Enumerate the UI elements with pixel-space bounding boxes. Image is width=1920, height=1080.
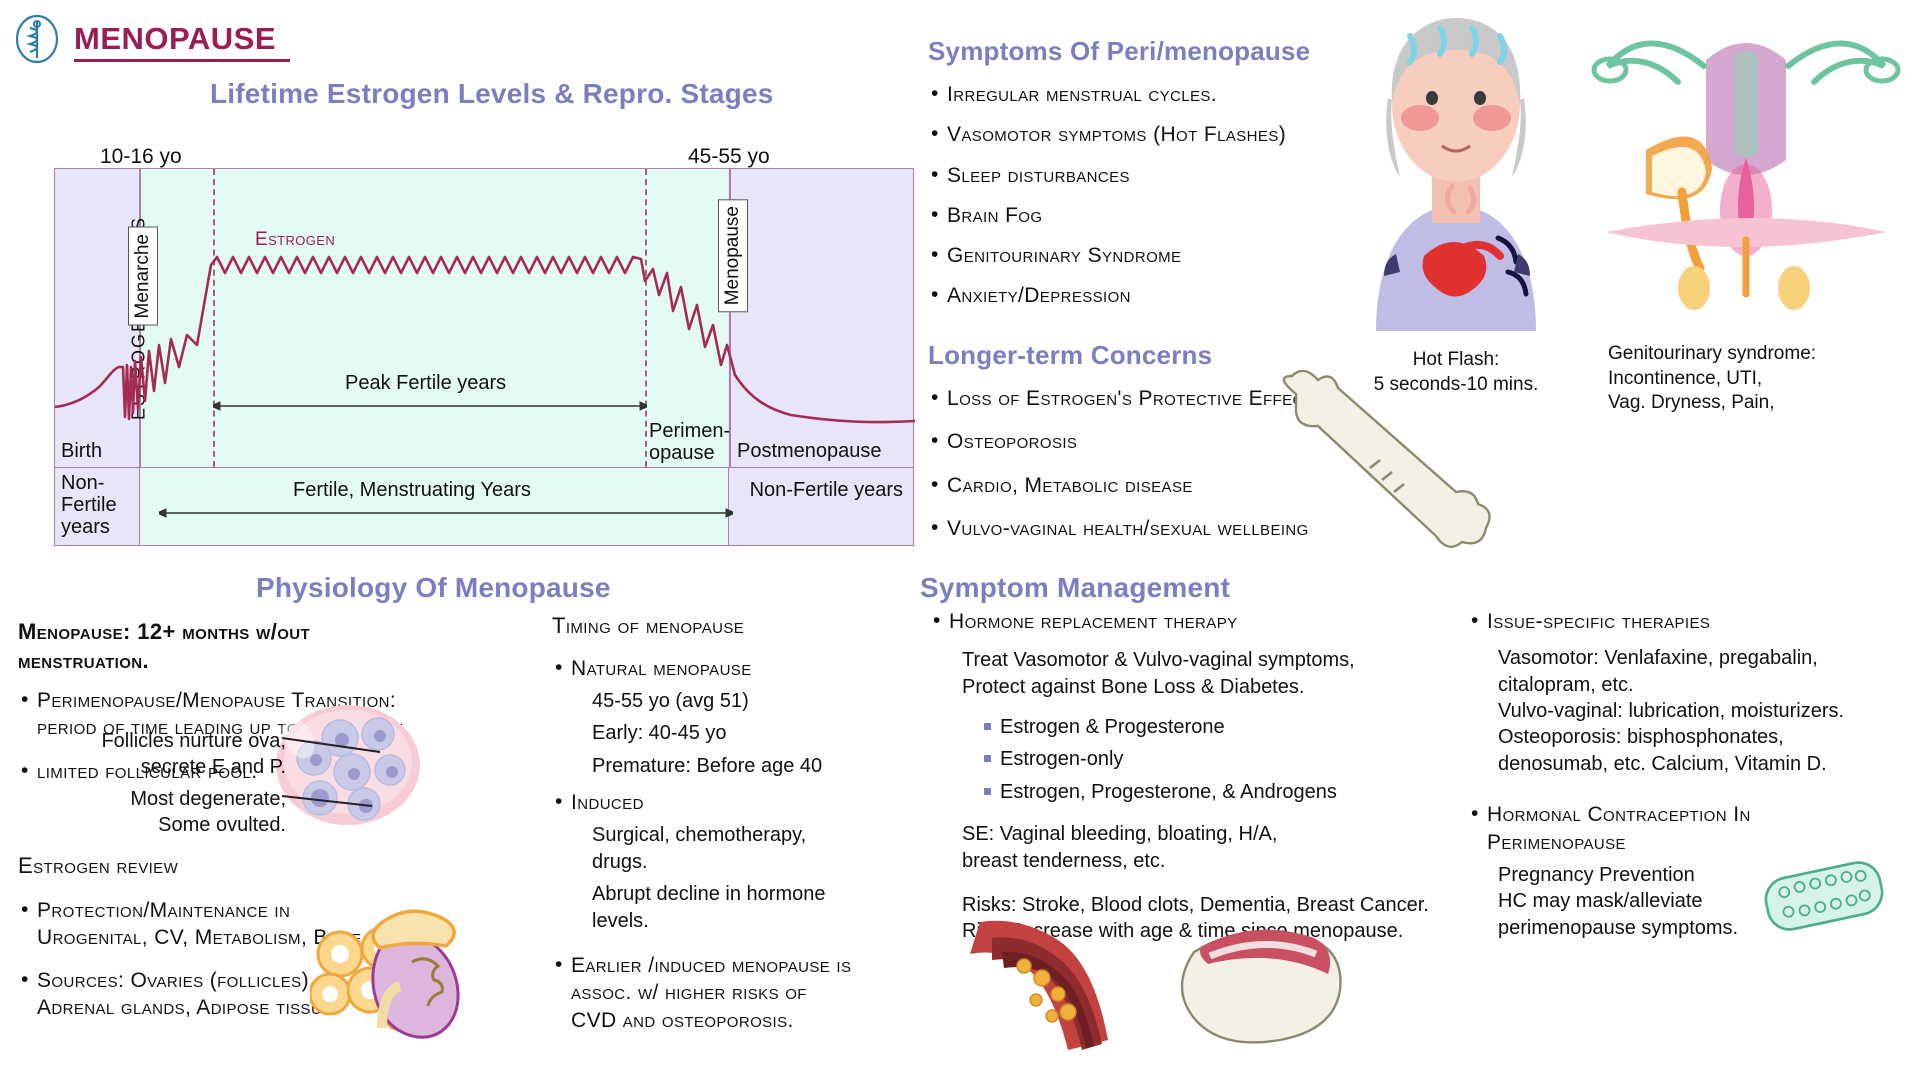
timing-heading: Timing of menopause [552,612,852,641]
earlier-menopause-risk-bullet: Earlier /induced menopause is [552,952,852,979]
callout2-line1: Most degenerate, [28,786,286,812]
hrt-line2: Protect against Bone Loss & Diabetes. [930,674,1450,700]
symptom-item: Brain Fog [928,202,1358,229]
gu-caption-line2: Incontinence, UTI, [1608,368,1762,389]
early-menopause-age: Early: 40-45 yo [552,720,852,746]
hot-flash-caption-line1: Hot Flash: [1413,349,1500,370]
callout2-line2: Some ovulted. [28,812,286,838]
infographic-page: MENOPAUSE Lifetime Estrogen Levels & Rep… [0,0,1920,1080]
chart-age-label-right: 45-55 yo [688,145,770,169]
woman-hot-flash-illustration [1348,6,1564,336]
estrogen-curve [55,169,915,469]
band-mid-label: Fertile, Menstruating Years [293,479,531,502]
hrt-se-line1: SE: Vaginal bleeding, bloating, H/A, [930,821,1450,847]
menopause-tag: Menopause [718,199,748,312]
management-heading-wrap: Symptom Management [920,572,1230,604]
symptoms-section: Symptoms Of Peri/menopause Irregular men… [928,36,1358,310]
callout1-line2: secrete E and P. [28,754,286,780]
management-heading: Symptom Management [920,572,1230,604]
induced-causes: Surgical, chemotherapy, drugs. [552,822,852,875]
issue-line3: Vulvo-vaginal: lubrication, moisturizers… [1468,698,1888,724]
page-header: MENOPAUSE [14,14,290,69]
peak-fertile-label: Peak Fertile years [345,372,506,395]
timing-section: Timing of menopause Natural menopause 45… [552,612,852,1034]
menarche-tag: Menarche [128,227,158,326]
chart-title: Lifetime Estrogen Levels & Repro. Stages [210,78,774,110]
symptom-item: Sleep disturbances [928,162,1358,189]
estrogen-series-label: Estrogen [255,229,335,251]
issue-specific-bullet: Issue-specific therapies [1468,608,1888,635]
physiology-heading: Physiology Of Menopause [256,572,611,604]
postmenopause-label: Postmenopause [737,440,882,463]
band-left-line2: Fertile [61,494,117,517]
hrt-option: Estrogen, Progesterone, & Androgens [984,779,1450,805]
blocked-artery-illustration [962,912,1122,1052]
follicle-callout-1: Follicles nurture ova, secrete E and P. [28,728,286,781]
symptom-item: Genitourinary Syndrome [928,242,1358,269]
issue-line1: Vasomotor: Venlafaxine, pregabalin, [1468,645,1888,671]
symptom-item: Irregular menstrual cycles. [928,81,1358,108]
longer-term-heading: Longer-term Concerns [928,340,1388,371]
menopause-definition: Menopause: 12+ months w/out menstruation… [18,618,438,675]
estrogen-chart: ESTROGEN LEVELS Estrogen Menarche Menopa… [54,168,914,546]
follicle-callout-2: Most degenerate, Some ovulted. [28,786,286,839]
gu-caption-line1: Genitourinary syndrome: [1608,343,1816,364]
birth-label: Birth [61,440,102,463]
gu-caption-line3: Vag. Dryness, Pain, [1608,392,1775,413]
natural-menopause-age: 45-55 yo (avg 51) [552,688,852,714]
band-right-label: Non-Fertile years [750,479,903,502]
management-left-col: Hormone replacement therapy Treat Vasomo… [930,608,1450,945]
gu-syndrome-caption: Genitourinary syndrome: Incontinence, UT… [1608,342,1908,416]
fertile-years-arrow [159,506,733,520]
reproductive-stage-band: Non- Fertile years Fertile, Menstruating… [54,468,914,546]
band-left-line1: Non- [61,472,104,495]
issue-line2: citalopram, etc. [1468,672,1888,698]
earlier-menopause-risk-line2: assoc. w/ higher risks of [552,979,852,1006]
hrt-se-line2: breast tenderness, etc. [930,848,1450,874]
bone-cross-section-illustration [1168,918,1348,1048]
hormonal-contraception-bullet: Hormonal Contraception In Perimenopause [1468,801,1888,856]
chart-age-label-left: 10-16 yo [100,145,182,169]
perimenopause-label-line1: Perimen- [649,420,730,443]
chart-plot-area: ESTROGEN LEVELS Estrogen Menarche Menopa… [54,168,914,468]
hrt-bullet: Hormone replacement therapy [930,608,1450,635]
hrt-line1: Treat Vasomotor & Vulvo-vaginal symptoms… [930,647,1450,673]
peak-fertile-arrow [213,399,647,413]
estrogen-review-heading: Estrogen review [18,852,438,881]
issue-line5: denosumab, etc. Calcium, Vitamin D. [1468,751,1888,777]
contraceptive-pill-pack-illustration [1760,852,1890,938]
band-left-line3: years [61,516,110,539]
uterus-bladder-illustration [1586,10,1906,330]
natural-menopause-bullet: Natural menopause [552,655,852,682]
issue-line4: Osteoporosis: bisphosphonates, [1468,724,1888,750]
induced-hormone-decline: Abrupt decline in hormone levels. [552,881,852,934]
symptoms-heading: Symptoms Of Peri/menopause [928,36,1358,67]
callout1-line1: Follicles nurture ova, [28,728,286,754]
induced-menopause-bullet: Induced [552,789,852,816]
hrt-option: Estrogen-only [984,746,1450,772]
physiology-heading-wrap: Physiology Of Menopause [256,572,611,604]
symptom-item: Vasomotor symptoms (Hot Flashes) [928,121,1358,148]
caduceus-icon [14,14,60,69]
kidney-adrenal-illustration [356,900,486,1050]
femur-bone-illustration [1262,370,1512,570]
page-title: MENOPAUSE [74,21,290,62]
perimenopause-label-line2: opause [649,442,715,465]
symptom-item: Anxiety/Depression [928,282,1358,309]
callout-leader-lines [280,730,400,820]
premature-menopause-age: Premature: Before age 40 [552,753,852,779]
hrt-option: Estrogen & Progesterone [984,714,1450,740]
earlier-menopause-risk-line3: CVD and osteoporosis. [552,1007,852,1034]
